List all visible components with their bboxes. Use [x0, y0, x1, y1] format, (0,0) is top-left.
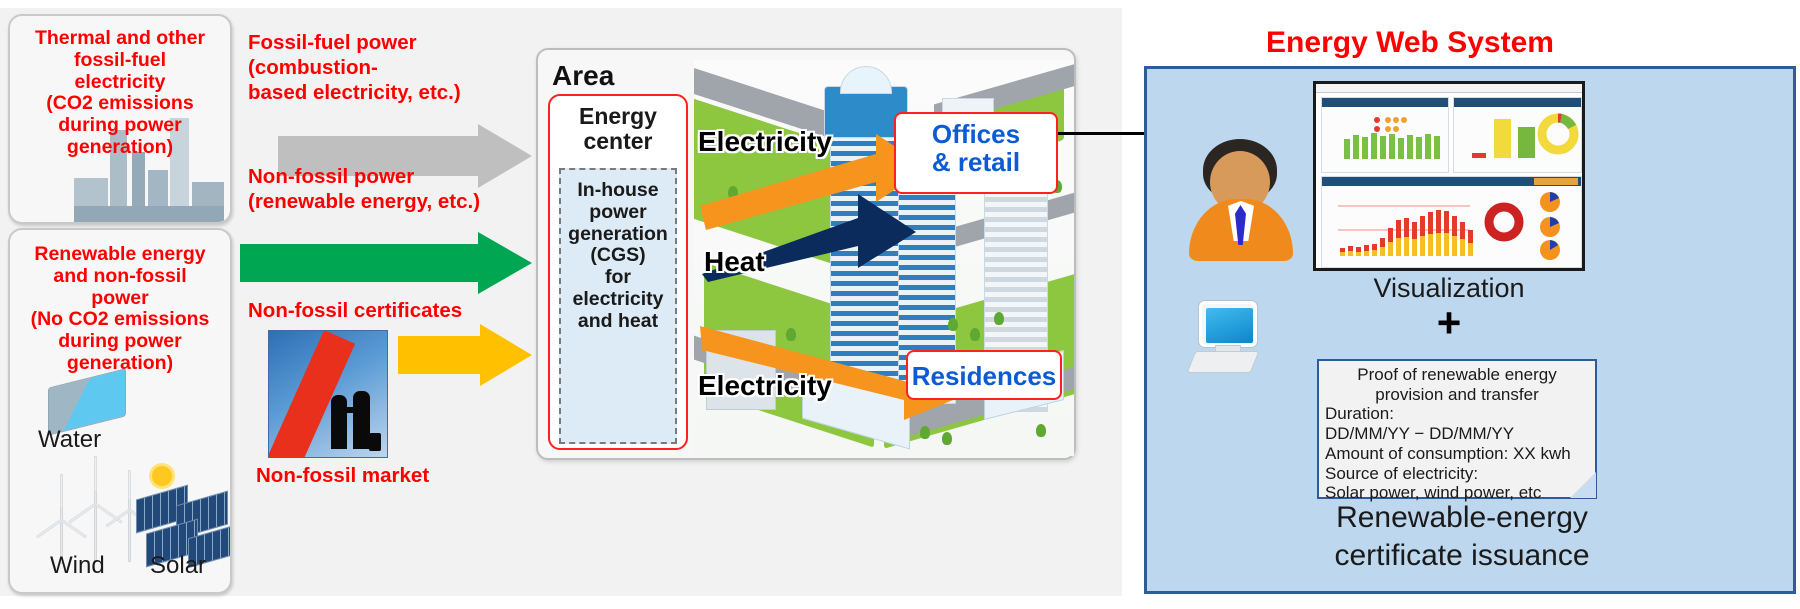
energy-center-line: In-house: [561, 180, 675, 202]
energy-center-inner-box: In-house power generation (CGS) for elec…: [559, 168, 677, 444]
source-line: fossil-fuel: [10, 50, 230, 72]
certificate-line: Duration:: [1325, 404, 1589, 424]
source-box-fossil: Thermal and other fossil-fuel electricit…: [8, 14, 232, 224]
source-line: and non-fossil: [10, 266, 230, 288]
energy-center-title-line: center: [550, 129, 686, 154]
label-electricity-bottom: Electricity: [698, 370, 832, 402]
desktop-computer-icon: [1191, 301, 1271, 381]
certificate-line: Proof of renewable energy: [1325, 365, 1589, 385]
chip-line: Residences: [908, 362, 1060, 390]
label-heat: Heat: [704, 246, 765, 278]
source-line: during power: [10, 331, 230, 353]
flow-line: Non-fossil certificates: [248, 298, 548, 323]
flow-line: based electricity, etc.): [248, 80, 538, 105]
diagram-canvas: Thermal and other fossil-fuel electricit…: [0, 0, 1800, 609]
source-sub-label: Water: [38, 426, 101, 454]
flow-line: Non-fossil power: [248, 164, 548, 189]
energy-center-line: for: [561, 267, 675, 289]
flow-line: (combustion-: [248, 55, 538, 80]
flow-label-fossil: Fossil-fuel power (combustion- based ele…: [248, 30, 538, 105]
certificate-line: DD/MM/YY − DD/MM/YY: [1325, 424, 1589, 444]
plus-symbol: +: [1313, 305, 1585, 341]
energy-center-line: generation: [561, 224, 675, 246]
area-box: Area Energy center In-house power genera…: [536, 48, 1076, 460]
source-line: Thermal and other: [10, 28, 230, 50]
source-sub-label: Wind: [50, 552, 105, 580]
source-line: (CO2 emissions: [10, 93, 230, 115]
sun-icon: [152, 466, 172, 486]
flow-line: Fossil-fuel power: [248, 30, 538, 55]
energy-center-title-line: Energy: [550, 104, 686, 129]
certificate-caption-line: Renewable-energy: [1297, 499, 1627, 537]
certificate-line: Source of electricity:: [1325, 464, 1589, 484]
flow-label-nonfossil: Non-fossil power (renewable energy, etc.…: [248, 164, 548, 214]
ews-title: Energy Web System: [1200, 26, 1620, 60]
energy-center-line: power: [561, 202, 675, 224]
area-label: Area: [552, 60, 614, 92]
source-line: (No CO2 emissions: [10, 309, 230, 331]
source-line: during power: [10, 115, 230, 137]
source-sub-label: Solar: [150, 552, 206, 580]
label-electricity-top: Electricity: [698, 126, 832, 158]
dashboard-screenshot: [1313, 81, 1585, 271]
arrow-nonfossil: [240, 244, 532, 282]
source-line: electricity: [10, 72, 230, 94]
certificate-caption: Renewable-energy certificate issuance: [1297, 499, 1627, 574]
energy-center-line: and heat: [561, 311, 675, 333]
chip-offices-retail: Offices & retail: [894, 112, 1058, 194]
flow-line: (renewable energy, etc.): [248, 189, 548, 214]
energy-center-line: (CGS): [561, 245, 675, 267]
source-line: generation): [10, 353, 230, 375]
energy-web-system-panel: Visualization + Proof of renewable energ…: [1144, 66, 1796, 594]
chip-line: & retail: [896, 148, 1056, 176]
certificate-caption-line: certificate issuance: [1297, 537, 1627, 575]
source-box-renewable: Renewable energy and non-fossil power (N…: [8, 228, 232, 594]
market-handshake-icon: [268, 330, 388, 458]
chip-residences: Residences: [906, 350, 1062, 400]
page-fold-icon: [1570, 472, 1596, 498]
chip-line: Offices: [896, 120, 1056, 148]
certificate-note: Proof of renewable energy provision and …: [1317, 359, 1597, 499]
arrow-certificates: [398, 336, 532, 374]
source-line: generation): [10, 137, 230, 159]
certificate-line: Amount of consumption: XX kwh: [1325, 444, 1589, 464]
certificate-line: provision and transfer: [1325, 385, 1589, 405]
energy-center-box: Energy center In-house power generation …: [548, 94, 688, 450]
source-line: Renewable energy: [10, 244, 230, 266]
energy-center-line: electricity: [561, 289, 675, 311]
source-line: power: [10, 288, 230, 310]
user-avatar-icon: [1189, 139, 1293, 263]
market-label: Non-fossil market: [256, 464, 429, 488]
flow-label-certificates: Non-fossil certificates: [248, 298, 548, 323]
